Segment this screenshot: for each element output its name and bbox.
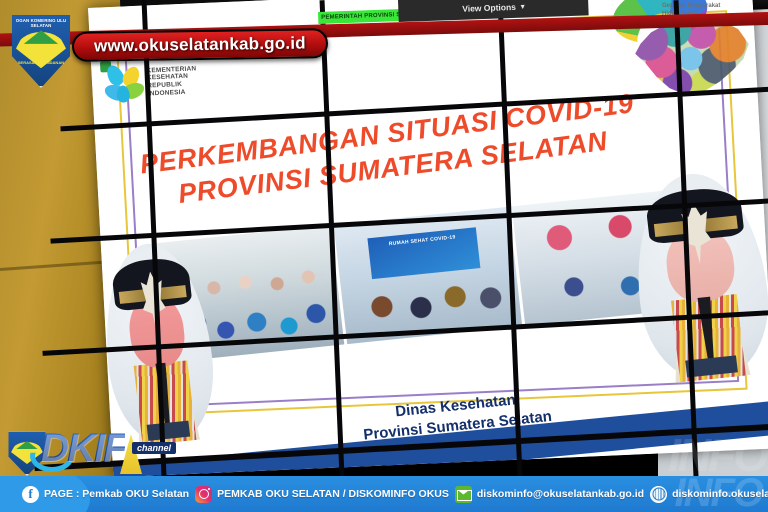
dkif-channel-logo: DKIF channel <box>4 418 192 480</box>
kemenkes-logo-text: KEMENTERIAN KESEHATAN REPUBLIK INDONESIA <box>146 65 197 98</box>
chevron-down-icon[interactable]: ▾ <box>521 3 525 11</box>
footer-website-text: diskominfo.okuselatankab.go.id <box>672 488 768 500</box>
dkif-channel-badge: channel <box>132 442 176 454</box>
region-seal-top-text: OGAN KOMERING ULU SELATAN <box>8 18 74 28</box>
photo-officials-visit: RUMAH SEHAT COVID-19 <box>334 207 523 344</box>
url-banner-text: www.okuselatankab.go.id <box>94 34 306 57</box>
region-seal-bottom-text: SERASAN SEANDANAN <box>8 60 74 65</box>
kemenkes-pinwheel-icon <box>105 64 143 104</box>
footer-instagram-text: PEMKAB OKU SELATAN / DISKOMINFO OKUS <box>217 488 449 500</box>
url-banner: www.okuselatankab.go.id <box>72 28 328 62</box>
footer-item-facebook[interactable]: f PAGE : Pemkab OKU Selatan <box>22 486 189 503</box>
email-icon[interactable] <box>455 486 472 503</box>
right-watermark: INFO <box>668 428 766 482</box>
facebook-icon[interactable]: f <box>22 486 39 503</box>
dkif-wordmark: DKIF <box>40 426 125 471</box>
kemenkes-logo: KEMENTERIAN KESEHATAN REPUBLIK INDONESIA <box>105 61 198 103</box>
footer-email-text: diskominfo@okuselatankab.go.id <box>477 488 644 500</box>
website-icon[interactable] <box>650 486 667 503</box>
footer-facebook-text: PAGE : Pemkab OKU Selatan <box>44 488 189 500</box>
kemenkes-line-4: INDONESIA <box>148 88 198 98</box>
footer-item-website[interactable]: diskominfo.okuselatankab.go.id <box>650 486 768 503</box>
view-options-label[interactable]: View Options <box>462 2 516 14</box>
instagram-icon[interactable] <box>195 486 212 503</box>
germas-line-1: Gerakan Masyarakat <box>662 2 720 10</box>
footer-item-email[interactable]: diskominfo@okuselatankab.go.id <box>455 486 644 503</box>
contact-footer-bar: f PAGE : Pemkab OKU Selatan PEMKAB OKU S… <box>0 476 768 512</box>
region-seal-logo: OGAN KOMERING ULU SELATAN SERASAN SEANDA… <box>8 12 74 88</box>
photo-banner-text: RUMAH SEHAT COVID-19 <box>367 227 480 279</box>
footer-item-instagram[interactable]: PEMKAB OKU SELATAN / DISKOMINFO OKUS <box>195 486 449 503</box>
screenshot-root: KEMENTERIAN KESEHATAN REPUBLIK INDONESIA… <box>0 0 768 512</box>
